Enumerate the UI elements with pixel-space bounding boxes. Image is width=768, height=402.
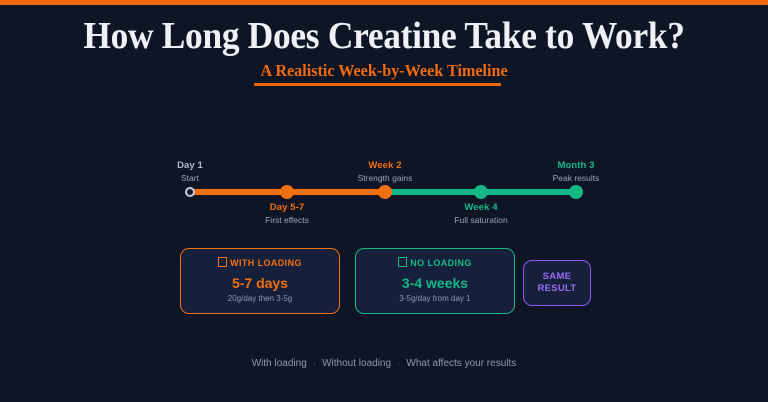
page-header: How Long Does Creatine Take to Work? A R… bbox=[0, 5, 768, 86]
timeline-node-title: Week 2 bbox=[305, 160, 465, 172]
page-subtitle: A Realistic Week-by-Week Timeline bbox=[260, 61, 507, 81]
timeline-node-label: Week 2 Strength gains bbox=[305, 160, 465, 184]
card-heading-label: NO LOADING bbox=[410, 258, 472, 268]
timeline-node-sub: Start bbox=[110, 172, 270, 184]
timeline-node-label: Day 5-7 First effects bbox=[207, 202, 367, 226]
card-heading: WITH LOADING bbox=[181, 257, 339, 269]
timeline-node-sub: Full saturation bbox=[401, 214, 561, 226]
timeline-marker-green-icon bbox=[474, 185, 488, 199]
footer-link-with-loading[interactable]: With loading bbox=[252, 358, 307, 369]
timeline-node-title: Day 5-7 bbox=[207, 202, 367, 214]
timeline-node-title: Month 3 bbox=[496, 160, 656, 172]
comparison-cards: WITH LOADING 5-7 days 20g/day then 3-5g … bbox=[180, 248, 592, 316]
card-same-result-line1: SAME bbox=[537, 271, 576, 283]
footer-link-without-loading[interactable]: Without loading bbox=[322, 358, 391, 369]
footer-separator: · bbox=[307, 358, 322, 369]
timeline-node-label: Month 3 Peak results bbox=[496, 160, 656, 184]
timeline-marker-green-icon bbox=[569, 185, 583, 199]
timeline-node-label: Week 4 Full saturation bbox=[401, 202, 561, 226]
missing-glyph-box-icon bbox=[398, 257, 407, 267]
footer-link-what-affects-results[interactable]: What affects your results bbox=[406, 358, 516, 369]
card-same-result[interactable]: SAME RESULT bbox=[523, 260, 591, 306]
timeline-node-title: Day 1 bbox=[110, 160, 270, 172]
footer-separator: · bbox=[391, 358, 406, 369]
timeline-marker-orange-icon bbox=[280, 185, 294, 199]
missing-glyph-box-icon bbox=[218, 257, 227, 267]
timeline-marker-orange-icon bbox=[378, 185, 392, 199]
timeline-node-sub: Peak results bbox=[496, 172, 656, 184]
card-note: 3-5g/day from day 1 bbox=[356, 293, 514, 304]
card-heading-label: WITH LOADING bbox=[230, 258, 302, 268]
card-heading: NO LOADING bbox=[356, 257, 514, 269]
card-value: 3-4 weeks bbox=[356, 274, 514, 292]
card-same-result-line2: RESULT bbox=[537, 283, 576, 295]
timeline-node-sub: Strength gains bbox=[305, 172, 465, 184]
card-with-loading[interactable]: WITH LOADING 5-7 days 20g/day then 3-5g bbox=[180, 248, 340, 314]
page-subtitle-wrap: A Realistic Week-by-Week Timeline bbox=[254, 61, 514, 86]
card-no-loading[interactable]: NO LOADING 3-4 weeks 3-5g/day from day 1 bbox=[355, 248, 515, 314]
timeline-node-label: Day 1 Start bbox=[110, 160, 270, 184]
timeline-marker-ring-icon bbox=[185, 187, 195, 197]
creatine-timeline: Day 1 Start Day 5-7 First effects Week 2… bbox=[186, 155, 582, 227]
timeline-node-sub: First effects bbox=[207, 214, 367, 226]
card-note: 20g/day then 3-5g bbox=[181, 293, 339, 304]
timeline-node-title: Week 4 bbox=[401, 202, 561, 214]
footer-links: With loading·Without loading·What affect… bbox=[0, 357, 768, 371]
card-value: 5-7 days bbox=[181, 274, 339, 292]
card-same-result-text: SAME RESULT bbox=[537, 271, 576, 295]
page-title: How Long Does Creatine Take to Work? bbox=[27, 14, 741, 58]
subtitle-underline bbox=[254, 83, 501, 86]
